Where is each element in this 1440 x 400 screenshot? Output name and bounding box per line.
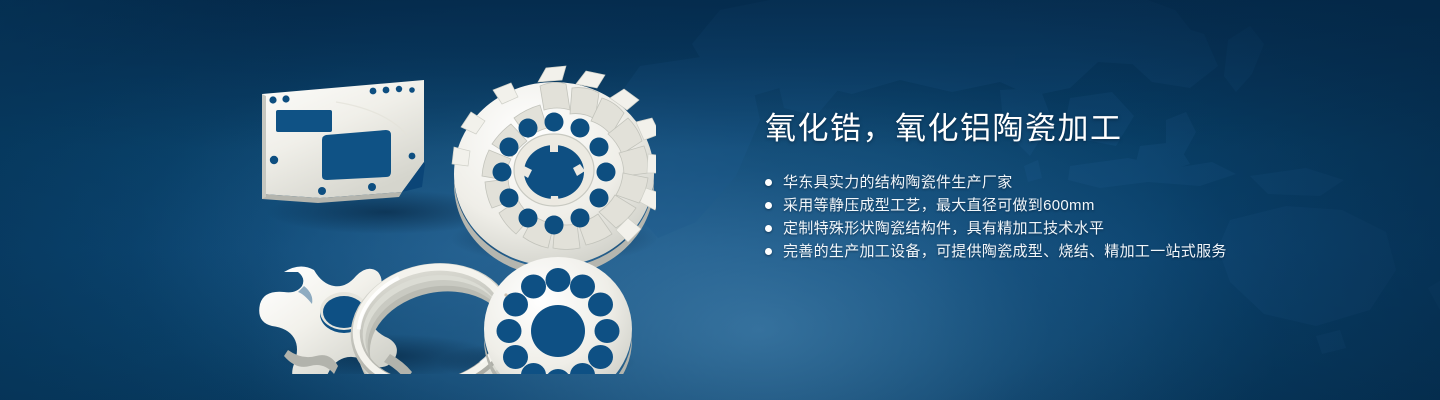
ceramic-bladed-impeller-shape <box>452 66 656 276</box>
feature-text: 华东具实力的结构陶瓷件生产厂家 <box>783 171 1013 194</box>
product-photo-cluster <box>236 44 656 374</box>
list-item: 完善的生产加工设备，可提供陶瓷成型、烧结、精加工一站式服务 <box>765 240 1325 263</box>
ceramic-perforated-disc-shape <box>484 257 632 374</box>
feature-text: 定制特殊形状陶瓷结构件，具有精加工技术水平 <box>783 217 1104 240</box>
feature-text: 采用等静压成型工艺，最大直径可做到600mm <box>783 194 1095 217</box>
feature-text: 完善的生产加工设备，可提供陶瓷成型、烧结、精加工一站式服务 <box>783 240 1227 263</box>
list-item: 定制特殊形状陶瓷结构件，具有精加工技术水平 <box>765 217 1325 240</box>
list-item: 华东具实力的结构陶瓷件生产厂家 <box>765 171 1325 194</box>
bullet-dot-icon <box>765 225 772 232</box>
bullet-dot-icon <box>765 248 772 255</box>
page-title: 氧化锆，氧化铝陶瓷加工 <box>765 108 1325 150</box>
bullet-dot-icon <box>765 202 772 209</box>
banner-copy: 氧化锆，氧化铝陶瓷加工 华东具实力的结构陶瓷件生产厂家 采用等静压成型工艺，最大… <box>765 108 1325 263</box>
feature-list: 华东具实力的结构陶瓷件生产厂家 采用等静压成型工艺，最大直径可做到600mm 定… <box>765 171 1325 263</box>
hero-banner: 氧化锆，氧化铝陶瓷加工 华东具实力的结构陶瓷件生产厂家 采用等静压成型工艺，最大… <box>0 0 1440 400</box>
ceramic-flat-plate-shape <box>262 80 425 203</box>
bullet-dot-icon <box>765 179 772 186</box>
list-item: 采用等静压成型工艺，最大直径可做到600mm <box>765 194 1325 217</box>
